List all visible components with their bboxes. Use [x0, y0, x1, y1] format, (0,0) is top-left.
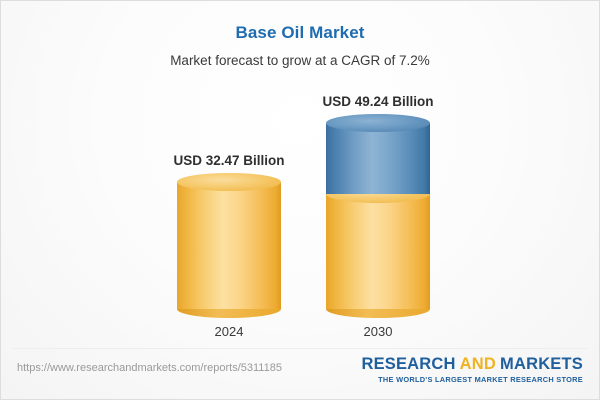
bar-group-2024: USD 32.47 Billion 2024 [154, 81, 304, 339]
chart-card: Base Oil Market Market forecast to grow … [0, 0, 600, 400]
logo-word-research: RESEARCH [361, 355, 455, 373]
cylinder-top-ellipse-2030 [326, 114, 430, 132]
cylinder-body-growth-2030 [326, 123, 430, 194]
logo-word-and: AND [456, 355, 500, 373]
bar-segment-growth-2030 [326, 123, 430, 194]
logo-tagline: THE WORLD'S LARGEST MARKET RESEARCH STOR… [361, 375, 583, 384]
cylinder-top-ellipse-2024 [177, 173, 281, 191]
cylinder-body-base-2030 [326, 194, 430, 309]
cylinder-bar-2030[interactable] [326, 123, 430, 309]
source-url[interactable]: https://www.researchandmarkets.com/repor… [17, 362, 282, 374]
footer-divider [13, 348, 587, 349]
axis-label-2024: 2024 [154, 324, 304, 339]
chart-title: Base Oil Market [1, 23, 599, 43]
logo-wordmark: RESEARCHANDMARKETS [361, 356, 583, 373]
axis-label-2030: 2030 [303, 324, 453, 339]
logo-word-markets: MARKETS [500, 355, 583, 373]
cylinder-body-2024 [177, 182, 281, 309]
research-and-markets-logo[interactable]: RESEARCHANDMARKETS THE WORLD'S LARGEST M… [361, 356, 583, 384]
chart-content: Base Oil Market Market forecast to grow … [1, 1, 599, 399]
bar-segment-base-2030 [326, 194, 430, 309]
bar-value-label-2024: USD 32.47 Billion [154, 153, 304, 168]
cylinder-bar-2024[interactable] [177, 182, 281, 309]
chart-subtitle: Market forecast to grow at a CAGR of 7.2… [1, 53, 599, 68]
bar-value-label-2030: USD 49.24 Billion [303, 94, 453, 109]
bar-group-2030: USD 49.24 Billion 2030 [303, 81, 453, 339]
bar-segment-base-2024 [177, 182, 281, 309]
chart-plot-area: USD 32.47 Billion 2024 USD 49.24 Billion [1, 81, 600, 339]
